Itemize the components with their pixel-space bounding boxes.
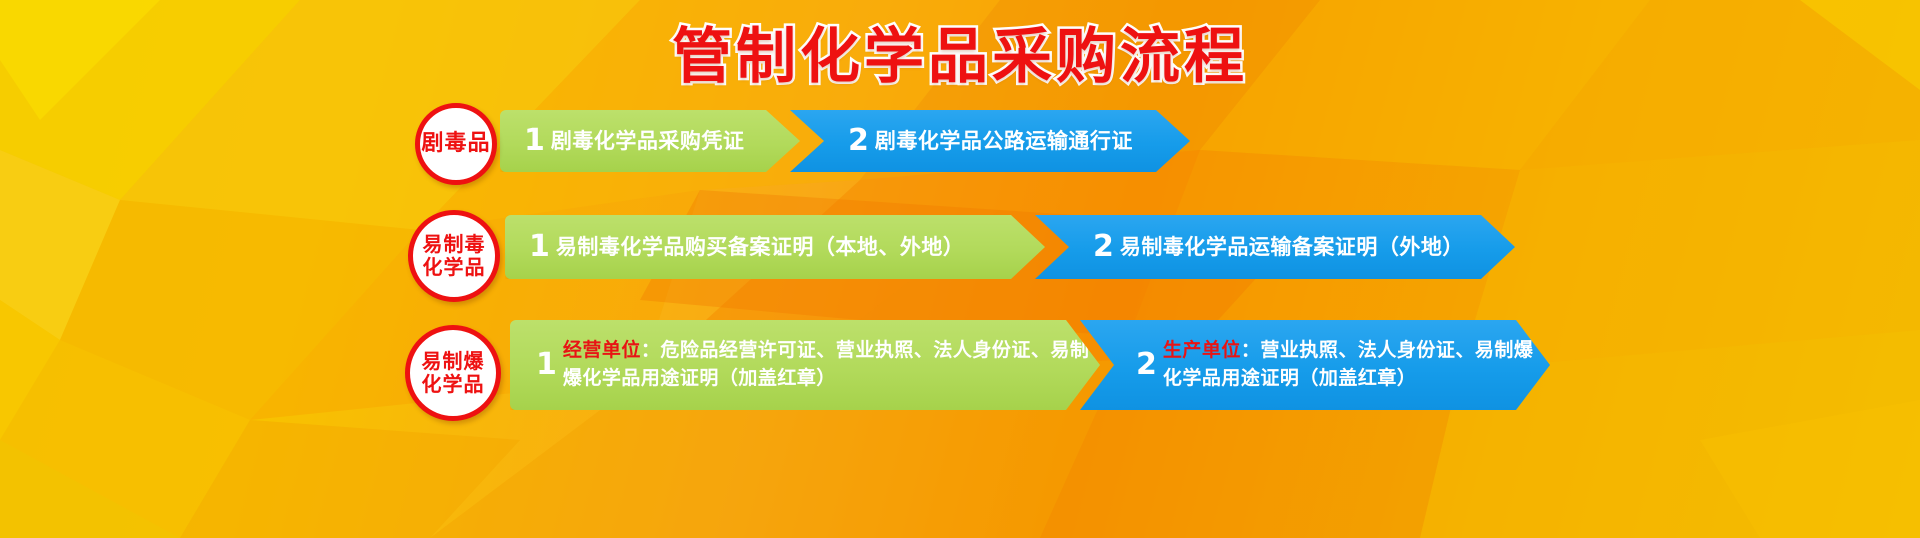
step-chevron-row3-step2[interactable]: 2 生产单位：营业执照、法人身份证、易制爆化学品用途证明（加盖红章） — [1080, 320, 1550, 410]
page-title-container: 管制化学品采购流程 — [0, 8, 1920, 95]
category-badge-precursor-drug: 易制毒 化学品 — [408, 210, 500, 302]
step-chevron-row2-step1[interactable]: 1 易制毒化学品购买备案证明（本地、外地） — [505, 215, 1045, 279]
page-title: 管制化学品采购流程 — [672, 8, 1248, 95]
step-chevron-row1-step1[interactable]: 1 剧毒化学品采购凭证 — [500, 110, 800, 172]
step-chevron-row2-step2[interactable]: 2 易制毒化学品运输备案证明（外地） — [1035, 215, 1515, 279]
step-text: 剧毒化学品采购凭证 — [551, 128, 745, 154]
step-label: 经营单位 — [563, 339, 641, 361]
step-label: 生产单位 — [1163, 339, 1241, 361]
step-chevron-row3-step1[interactable]: 1 经营单位：危险品经营许可证、营业执照、法人身份证、易制爆化学品用途证明（加盖… — [510, 320, 1100, 410]
badge-line: 易制毒 — [423, 233, 486, 256]
step-number: 1 — [529, 232, 550, 262]
badge-line: 易制爆 — [422, 350, 485, 373]
step-number: 1 — [524, 126, 545, 156]
step-text: 生产单位：营业执照、法人身份证、易制爆化学品用途证明（加盖红章） — [1163, 337, 1550, 392]
badge-line: 剧毒品 — [421, 132, 490, 156]
category-badge-precursor-explosive: 易制爆 化学品 — [405, 325, 501, 421]
badge-line: 化学品 — [422, 373, 485, 396]
step-label-separator: ： — [1241, 339, 1261, 361]
step-number: 2 — [848, 126, 869, 156]
category-badge-toxic: 剧毒品 — [415, 103, 497, 185]
step-label-separator: ： — [641, 339, 661, 361]
step-number: 2 — [1093, 232, 1114, 262]
step-text: 剧毒化学品公路运输通行证 — [875, 128, 1133, 154]
step-chevron-row1-step2[interactable]: 2 剧毒化学品公路运输通行证 — [790, 110, 1190, 172]
badge-line: 化学品 — [423, 256, 486, 279]
step-text: 经营单位：危险品经营许可证、营业执照、法人身份证、易制爆化学品用途证明（加盖红章… — [563, 337, 1100, 392]
step-text: 易制毒化学品运输备案证明（外地） — [1120, 234, 1464, 260]
step-number: 2 — [1136, 350, 1157, 380]
step-number: 1 — [536, 350, 557, 380]
step-text: 易制毒化学品购买备案证明（本地、外地） — [556, 234, 965, 260]
